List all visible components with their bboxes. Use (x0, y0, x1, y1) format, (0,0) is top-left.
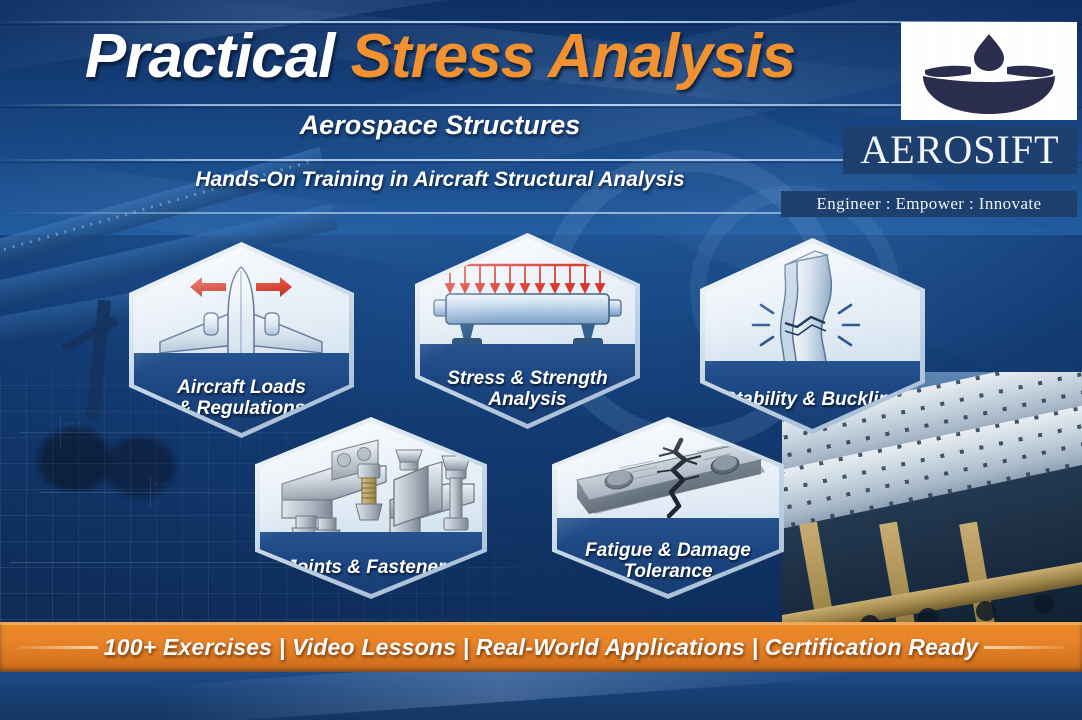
page-subtitle: Aerospace Structures (0, 110, 880, 141)
badge-stress-strength[interactable]: Stress & Strength Analysis (415, 233, 640, 429)
badge-label-line1: Stress & Strength (439, 368, 615, 389)
page-title-white: Practical (85, 22, 351, 91)
badge-label-line2: Analysis (480, 389, 574, 410)
footer-strip (0, 672, 1082, 720)
logo-brand-text: AEROSIFT (860, 130, 1059, 170)
banner-text: 100+ Exercises | Video Lessons | Real-Wo… (0, 622, 1082, 672)
diya-lamp-icon (901, 22, 1077, 120)
page-tagline: Hands-On Training in Aircraft Structural… (0, 168, 880, 192)
footer-swoosh (149, 672, 850, 720)
logo-tagline-plate: Engineer : Empower : Innovate (781, 191, 1077, 217)
logo-brand-plate: AEROSIFT (843, 126, 1077, 174)
page-title-orange: Stress Analysis (351, 22, 796, 91)
badge-label-line2: Tolerance (615, 561, 720, 582)
badge-aircraft-loads[interactable]: Aircraft Loads & Regulations (129, 242, 354, 438)
badge-label-line1: Fatigue & Damage (577, 540, 759, 561)
poster: 120.5 R 42 Practical Stress Analysis Aer… (0, 0, 1082, 720)
badge-label-line2: & Regulations (170, 398, 314, 419)
badge-label-line1: Aircraft Loads (169, 377, 314, 398)
badge-label-band: Stress & Strength Analysis (420, 344, 635, 424)
badge-joints-fasteners[interactable]: Joints & Fasteners (255, 417, 487, 599)
page-title: Practical Stress Analysis (0, 26, 880, 88)
features-banner: 100+ Exercises | Video Lessons | Real-Wo… (0, 622, 1082, 672)
logo-mark-box (901, 22, 1077, 120)
logo-tagline-text: Engineer : Empower : Innovate (817, 194, 1042, 214)
badge-stability-buckling[interactable]: Stability & Buckling (700, 238, 925, 434)
badge-fatigue-damage[interactable]: Fatigue & Damage Tolerance (552, 417, 784, 599)
badge-label-band: Fatigue & Damage Tolerance (557, 518, 779, 594)
